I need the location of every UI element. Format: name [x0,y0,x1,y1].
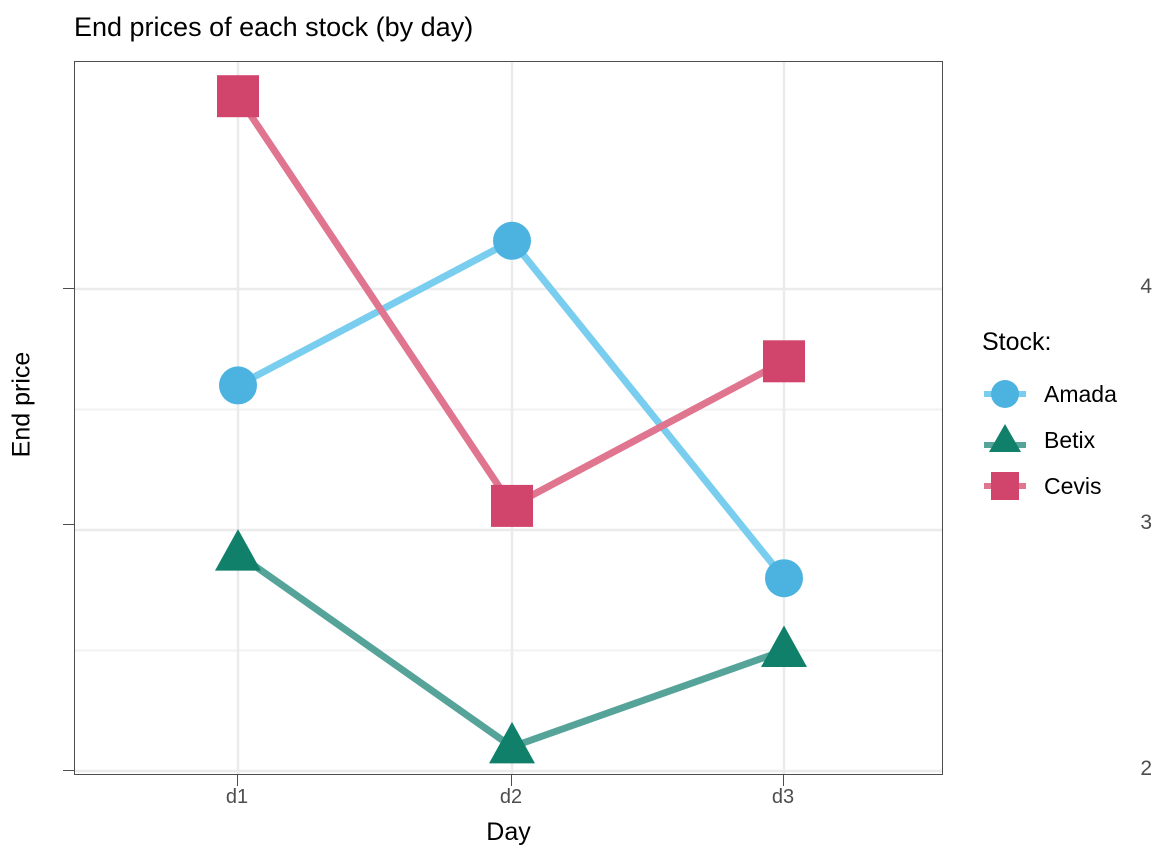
legend-title: Stock: [982,328,1147,357]
x-axis-title: Day [74,818,943,847]
legend-item-betix[interactable]: Betix [982,417,1147,463]
x-tick-mark-d2 [511,775,512,786]
x-tick-mark-d1 [237,775,238,786]
betix-triangle-icon [982,417,1028,463]
plot-area [75,62,942,774]
y-tick-label-4: 4 [1096,275,1152,299]
y-tick-mark-3 [63,524,74,525]
y-tick-mark-2 [63,770,74,771]
chart-title: End prices of each stock (by day) [74,12,473,43]
x-tick-label-d2: d2 [500,786,522,809]
plot-panel [74,61,943,775]
cevis-square-icon [982,463,1028,509]
legend: Stock: Amada Betix [982,328,1147,509]
x-tick-label-d1: d1 [226,786,248,809]
x-tick-label-d3: d3 [772,786,794,809]
chart-root: End prices of each stock (by day) 4 3 2 … [0,0,1152,864]
legend-label-amada: Amada [1044,381,1117,408]
y-tick-mark-4 [63,288,74,289]
legend-item-amada[interactable]: Amada [982,371,1147,417]
y-axis-title: End price [8,240,37,570]
legend-item-cevis[interactable]: Cevis [982,463,1147,509]
legend-label-cevis: Cevis [1044,473,1102,500]
x-tick-mark-d3 [783,775,784,786]
y-tick-label-3: 3 [1096,511,1152,535]
legend-label-betix: Betix [1044,427,1095,454]
y-tick-label-2: 2 [1096,757,1152,781]
amada-circle-icon [982,371,1028,417]
